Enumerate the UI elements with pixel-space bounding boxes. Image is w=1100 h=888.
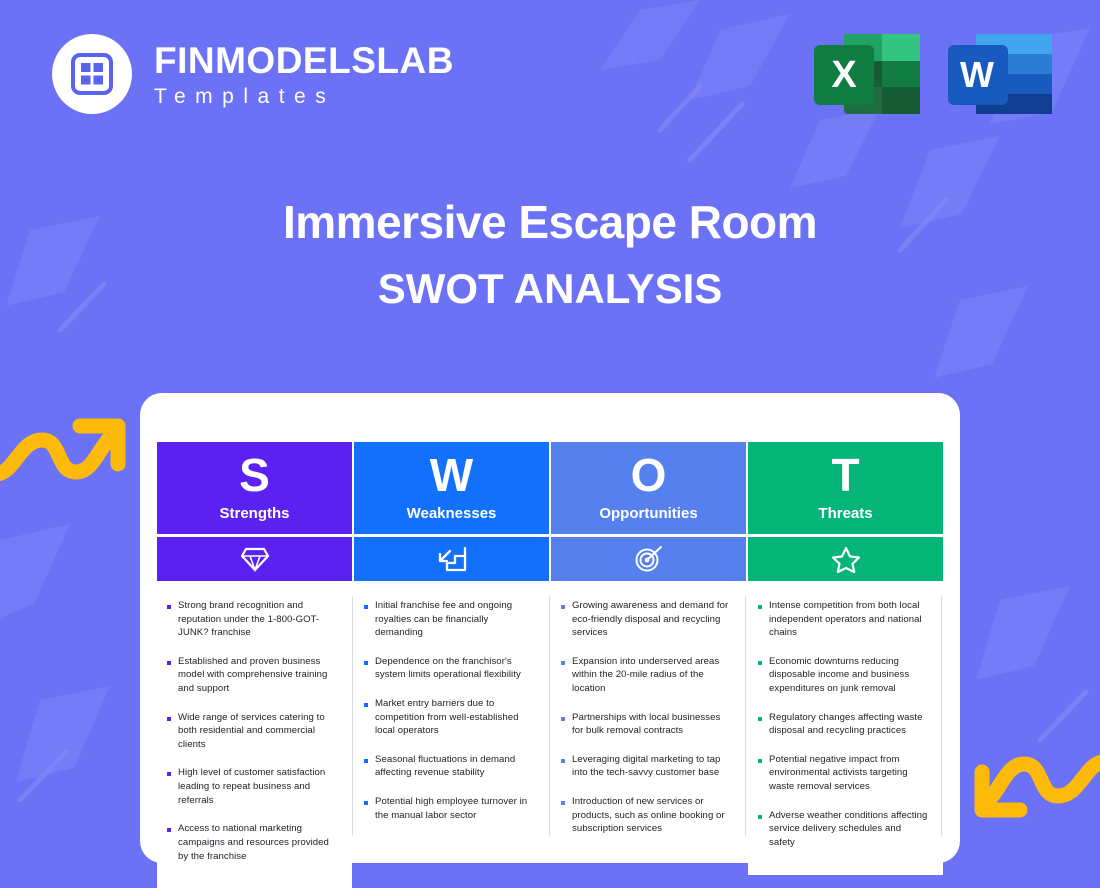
column-header-threats: T Threats (748, 442, 943, 534)
list-item: Initial franchise fee and ongoing royalt… (362, 599, 535, 640)
list-item: Introduction of new services or products… (559, 795, 732, 836)
column-header-strengths: S Strengths (157, 442, 352, 534)
bullet-text: Established and proven business model wi… (178, 655, 338, 696)
list-item: Strong brand recognition and reputation … (165, 599, 338, 640)
bullet-marker (167, 828, 171, 832)
bullet-marker (167, 661, 171, 665)
bullet-text: Economic downturns reducing disposable i… (769, 655, 929, 696)
bullet-marker (758, 661, 762, 665)
bullet-marker (758, 717, 762, 721)
bullet-marker (364, 605, 368, 609)
bullet-text: Potential negative impact from environme… (769, 753, 929, 794)
bullet-text: Initial franchise fee and ongoing royalt… (375, 599, 535, 640)
bullet-text: Strong brand recognition and reputation … (178, 599, 338, 640)
bullet-text: High level of customer satisfaction lead… (178, 766, 338, 807)
column-header-weaknesses: W Weaknesses (354, 442, 549, 534)
page-title: Immersive Escape Room (0, 196, 1100, 249)
column-letter: T (831, 454, 859, 498)
list-item: Adverse weather conditions affecting ser… (756, 809, 929, 850)
column-body-weaknesses: Initial franchise fee and ongoing royalt… (354, 581, 549, 847)
column-letter: O (631, 454, 667, 498)
list-item: Potential high employee turnover in the … (362, 795, 535, 822)
bullet-marker (758, 815, 762, 819)
list-item: Economic downturns reducing disposable i… (756, 655, 929, 696)
bullet-marker (758, 759, 762, 763)
descending-stairs-icon (354, 537, 549, 581)
grid-squares-icon (52, 34, 132, 114)
list-item: Established and proven business model wi… (165, 655, 338, 696)
bullet-marker (167, 717, 171, 721)
bullet-text: Introduction of new services or products… (572, 795, 732, 836)
svg-text:X: X (831, 54, 857, 96)
column-divider (745, 596, 746, 836)
list-item: Intense competition from both local inde… (756, 599, 929, 640)
bullet-marker (561, 801, 565, 805)
page-subtitle: SWOT ANALYSIS (0, 265, 1100, 313)
bullet-marker (561, 717, 565, 721)
column-letter: W (430, 454, 473, 498)
page-header: FINMODELSLAB Templates X W (0, 0, 1100, 150)
bullet-text: Dependence on the franchisor's system li… (375, 655, 535, 682)
list-item: Market entry barriers due to competition… (362, 697, 535, 738)
column-label: Opportunities (599, 505, 697, 522)
column-divider (352, 596, 353, 836)
bullet-text: Expansion into underserved areas within … (572, 655, 732, 696)
swot-column-strengths[interactable]: S Strengths Strong brand recognition and… (157, 442, 352, 888)
target-arrow-icon (551, 537, 746, 581)
swot-column-weaknesses[interactable]: W Weaknesses Initial franchise fee and o… (354, 442, 549, 888)
list-item: High level of customer satisfaction lead… (165, 766, 338, 807)
swot-column-opportunities[interactable]: O Opportunities Growing awareness and de… (551, 442, 746, 888)
column-body-strengths: Strong brand recognition and reputation … (157, 581, 352, 888)
star-outline-icon (748, 537, 943, 581)
swot-column-threats[interactable]: T Threats Intense competition from both … (748, 442, 943, 888)
bullet-text: Potential high employee turnover in the … (375, 795, 535, 822)
list-item: Expansion into underserved areas within … (559, 655, 732, 696)
column-divider (941, 596, 942, 836)
bullet-text: Leveraging digital marketing to tap into… (572, 753, 732, 780)
column-label: Threats (818, 505, 872, 522)
bullet-text: Intense competition from both local inde… (769, 599, 929, 640)
brand-name: FINMODELSLAB (154, 42, 454, 79)
list-item: Dependence on the franchisor's system li… (362, 655, 535, 682)
column-label: Strengths (219, 505, 289, 522)
list-item: Potential negative impact from environme… (756, 753, 929, 794)
list-item: Regulatory changes affecting waste dispo… (756, 711, 929, 738)
column-letter: S (239, 454, 270, 498)
bullet-marker (561, 605, 565, 609)
diamond-icon (157, 537, 352, 581)
bullet-marker (364, 801, 368, 805)
bullet-marker (167, 605, 171, 609)
word-icon: W (948, 28, 1052, 120)
svg-text:W: W (960, 54, 994, 95)
column-body-threats: Intense competition from both local inde… (748, 581, 943, 875)
bullet-marker (167, 772, 171, 776)
yellow-arrow-down-left (970, 752, 1100, 832)
bullet-text: Wide range of services catering to both … (178, 711, 338, 752)
excel-icon: X (814, 28, 920, 120)
list-item: Partnerships with local businesses for b… (559, 711, 732, 738)
swot-grid: S Strengths Strong brand recognition and… (157, 442, 943, 888)
bullet-marker (364, 759, 368, 763)
brand-subtitle: Templates (154, 86, 454, 107)
list-item: Wide range of services catering to both … (165, 711, 338, 752)
bullet-marker (364, 703, 368, 707)
bullet-text: Growing awareness and demand for eco-fri… (572, 599, 732, 640)
title-block: Immersive Escape Room SWOT ANALYSIS (0, 196, 1100, 313)
bullet-marker (364, 661, 368, 665)
list-item: Seasonal fluctuations in demand affectin… (362, 753, 535, 780)
brand-logo: FINMODELSLAB Templates (52, 34, 454, 114)
column-header-opportunities: O Opportunities (551, 442, 746, 534)
column-body-opportunities: Growing awareness and demand for eco-fri… (551, 581, 746, 861)
bullet-text: Market entry barriers due to competition… (375, 697, 535, 738)
column-label: Weaknesses (407, 505, 497, 522)
list-item: Growing awareness and demand for eco-fri… (559, 599, 732, 640)
format-icons: X W (814, 28, 1052, 120)
column-divider (549, 596, 550, 836)
bullet-marker (561, 661, 565, 665)
bullet-marker (758, 605, 762, 609)
yellow-arrow-up-right (0, 404, 130, 484)
bullet-text: Seasonal fluctuations in demand affectin… (375, 753, 535, 780)
list-item: Leveraging digital marketing to tap into… (559, 753, 732, 780)
bullet-text: Regulatory changes affecting waste dispo… (769, 711, 929, 738)
bullet-text: Adverse weather conditions affecting ser… (769, 809, 929, 850)
bullet-marker (561, 759, 565, 763)
bullet-text: Partnerships with local businesses for b… (572, 711, 732, 738)
